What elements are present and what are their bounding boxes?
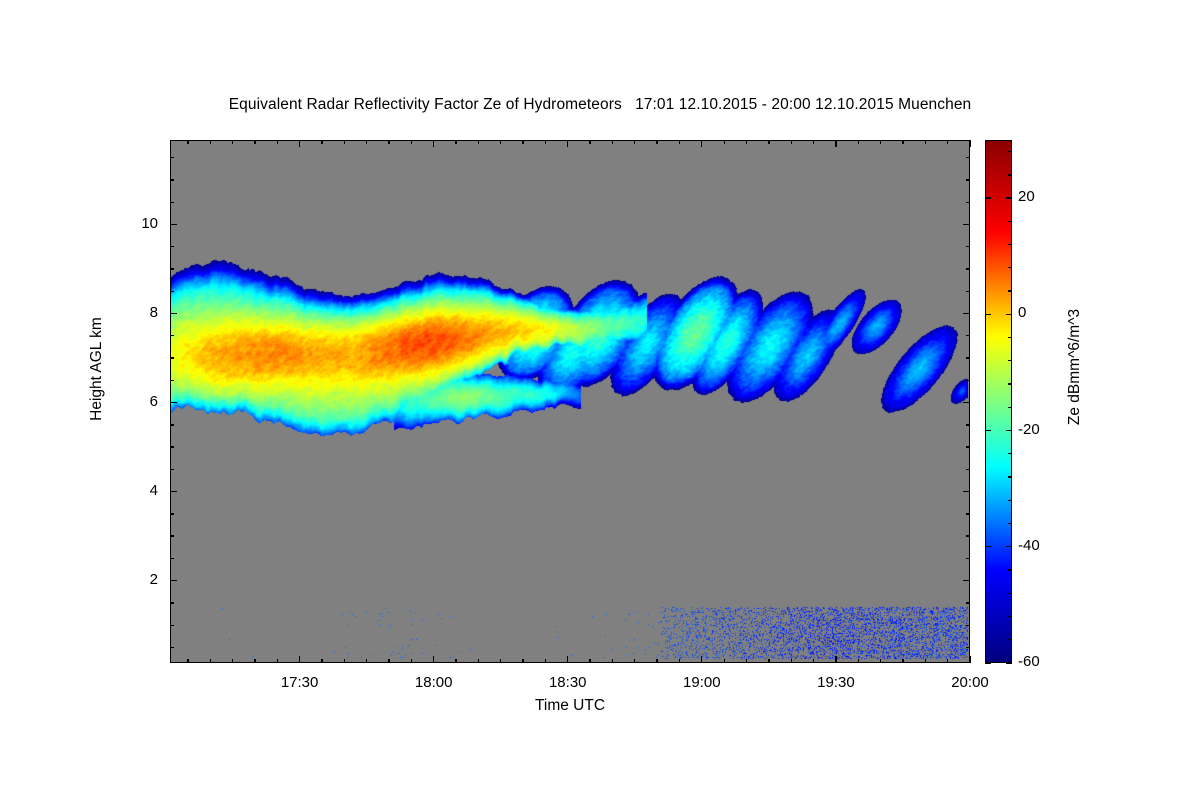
x-tick-label: 19:00	[642, 674, 762, 691]
plot-area	[170, 140, 970, 663]
colorbar-tick-label: -60	[1018, 653, 1040, 670]
tick-mark	[589, 140, 590, 144]
tick-mark	[966, 446, 970, 447]
colorbar-minor-tick	[1008, 221, 1012, 222]
tick-mark	[969, 140, 970, 147]
y-tick-label: 6	[98, 393, 158, 410]
tick-mark	[478, 140, 479, 144]
tick-mark	[634, 140, 635, 144]
tick-mark	[388, 140, 389, 144]
tick-mark	[969, 656, 970, 663]
tick-mark	[724, 659, 725, 663]
tick-mark	[656, 140, 657, 144]
tick-mark	[966, 268, 970, 269]
colorbar-minor-tick	[1008, 569, 1012, 570]
tick-mark	[858, 659, 859, 663]
tick-mark	[170, 625, 174, 626]
tick-mark	[966, 647, 970, 648]
tick-mark	[170, 313, 177, 314]
tick-mark	[966, 513, 970, 514]
tick-mark	[500, 659, 501, 663]
tick-mark	[724, 140, 725, 144]
tick-mark	[232, 659, 233, 663]
tick-mark	[835, 656, 836, 663]
tick-mark	[478, 659, 479, 663]
y-tick-label: 10	[98, 215, 158, 232]
tick-mark	[567, 656, 568, 663]
colorbar-tick	[985, 314, 991, 315]
tick-mark	[963, 491, 970, 492]
tick-mark	[746, 659, 747, 663]
tick-mark	[170, 157, 174, 158]
tick-mark	[455, 659, 456, 663]
colorbar-minor-tick	[1008, 476, 1012, 477]
tick-mark	[500, 140, 501, 144]
tick-mark	[656, 659, 657, 663]
x-tick-label: 19:30	[776, 674, 896, 691]
tick-mark	[170, 535, 174, 536]
tick-mark	[589, 659, 590, 663]
tick-mark	[522, 659, 523, 663]
colorbar-minor-tick	[1008, 151, 1012, 152]
tick-mark	[254, 140, 255, 144]
tick-mark	[966, 357, 970, 358]
tick-mark	[966, 602, 970, 603]
tick-mark	[545, 140, 546, 144]
tick-mark	[170, 291, 174, 292]
colorbar-minor-tick	[1008, 453, 1012, 454]
tick-mark	[277, 140, 278, 144]
colorbar-title: Ze dBmm^6/m^3	[1066, 267, 1084, 467]
colorbar-tick-label: 0	[1018, 304, 1026, 321]
colorbar-tick	[1006, 430, 1012, 431]
colorbar-tick-label: -20	[1018, 421, 1040, 438]
tick-mark	[366, 140, 367, 144]
tick-mark	[254, 659, 255, 663]
tick-mark	[170, 580, 177, 581]
tick-mark	[299, 656, 300, 663]
tick-mark	[170, 179, 174, 180]
tick-mark	[522, 140, 523, 144]
tick-mark	[925, 659, 926, 663]
tick-mark	[170, 268, 174, 269]
colorbar-tick	[1006, 662, 1012, 663]
tick-mark	[170, 246, 174, 247]
tick-mark	[858, 140, 859, 144]
tick-mark	[321, 659, 322, 663]
tick-mark	[634, 659, 635, 663]
tick-mark	[170, 513, 174, 514]
colorbar-tick	[1006, 546, 1012, 547]
tick-mark	[545, 659, 546, 663]
colorbar-minor-tick	[1008, 639, 1012, 640]
tick-mark	[791, 659, 792, 663]
tick-mark	[679, 659, 680, 663]
tick-mark	[433, 140, 434, 147]
x-tick-label: 18:00	[374, 674, 494, 691]
tick-mark	[746, 140, 747, 144]
tick-mark	[925, 140, 926, 144]
colorbar-minor-tick	[1008, 244, 1012, 245]
tick-mark	[880, 659, 881, 663]
tick-mark	[902, 659, 903, 663]
tick-mark	[813, 659, 814, 663]
tick-mark	[966, 469, 970, 470]
colorbar-tick	[985, 546, 991, 547]
x-tick-label: 17:30	[240, 674, 360, 691]
x-tick-label: 18:30	[508, 674, 628, 691]
tick-mark	[170, 491, 177, 492]
tick-mark	[768, 659, 769, 663]
tick-mark	[277, 659, 278, 663]
x-tick-label: 20:00	[910, 674, 1030, 691]
tick-mark	[187, 140, 188, 144]
colorbar-minor-tick	[1008, 360, 1012, 361]
colorbar-tick	[1006, 314, 1012, 315]
tick-mark	[966, 335, 970, 336]
tick-mark	[170, 335, 174, 336]
colorbar-minor-tick	[1008, 500, 1012, 501]
tick-mark	[170, 357, 174, 358]
tick-mark	[170, 202, 174, 203]
tick-mark	[880, 140, 881, 144]
y-tick-label: 2	[98, 571, 158, 588]
tick-mark	[966, 424, 970, 425]
colorbar-tick-label: -40	[1018, 537, 1040, 554]
x-axis-title: Time UTC	[170, 697, 970, 715]
tick-mark	[170, 558, 174, 559]
tick-mark	[344, 659, 345, 663]
colorbar-tick	[1006, 197, 1012, 198]
tick-mark	[966, 179, 970, 180]
tick-mark	[963, 313, 970, 314]
colorbar-minor-tick	[1008, 174, 1012, 175]
colorbar-minor-tick	[1008, 267, 1012, 268]
tick-mark	[963, 580, 970, 581]
tick-mark	[232, 140, 233, 144]
tick-mark	[411, 140, 412, 144]
tick-mark	[170, 602, 174, 603]
tick-mark	[963, 402, 970, 403]
tick-mark	[299, 140, 300, 147]
tick-mark	[947, 140, 948, 144]
tick-mark	[411, 659, 412, 663]
tick-mark	[210, 659, 211, 663]
radar-reflectivity-figure: Equivalent Radar Reflectivity Factor Ze …	[0, 0, 1200, 800]
colorbar-tick	[985, 662, 991, 663]
tick-mark	[388, 659, 389, 663]
colorbar-minor-tick	[1008, 593, 1012, 594]
tick-mark	[170, 224, 177, 225]
tick-mark	[791, 140, 792, 144]
tick-mark	[170, 446, 174, 447]
tick-mark	[170, 469, 174, 470]
colorbar-tick	[985, 197, 991, 198]
tick-mark	[210, 140, 211, 144]
tick-mark	[963, 224, 970, 225]
y-tick-label: 4	[98, 482, 158, 499]
tick-mark	[170, 647, 174, 648]
tick-mark	[679, 140, 680, 144]
tick-mark	[966, 380, 970, 381]
colorbar-minor-tick	[1008, 407, 1012, 408]
tick-mark	[567, 140, 568, 147]
colorbar-minor-tick	[1008, 290, 1012, 291]
tick-mark	[455, 140, 456, 144]
tick-mark	[170, 380, 174, 381]
tick-mark	[947, 659, 948, 663]
tick-mark	[187, 659, 188, 663]
colorbar-minor-tick	[1008, 337, 1012, 338]
tick-mark	[701, 140, 702, 147]
tick-mark	[966, 625, 970, 626]
tick-mark	[344, 140, 345, 144]
tick-mark	[366, 659, 367, 663]
colorbar	[985, 140, 1012, 663]
tick-mark	[813, 140, 814, 144]
tick-mark	[966, 246, 970, 247]
tick-mark	[701, 656, 702, 663]
tick-mark	[966, 202, 970, 203]
page-title: Equivalent Radar Reflectivity Factor Ze …	[0, 96, 1200, 114]
y-tick-label: 8	[98, 304, 158, 321]
tick-mark	[966, 157, 970, 158]
colorbar-tick	[985, 430, 991, 431]
colorbar-minor-tick	[1008, 616, 1012, 617]
tick-mark	[612, 140, 613, 144]
tick-mark	[433, 656, 434, 663]
tick-mark	[321, 140, 322, 144]
tick-mark	[170, 402, 177, 403]
tick-mark	[966, 291, 970, 292]
colorbar-minor-tick	[1008, 383, 1012, 384]
colorbar-gradient	[986, 141, 1011, 662]
tick-mark	[170, 424, 174, 425]
tick-mark	[902, 140, 903, 144]
y-axis-title: Height AGL km	[88, 269, 106, 469]
tick-mark	[966, 558, 970, 559]
colorbar-tick-label: 20	[1018, 188, 1035, 205]
tick-mark	[835, 140, 836, 147]
reflectivity-heatmap-canvas	[171, 141, 968, 661]
tick-mark	[768, 140, 769, 144]
tick-mark	[612, 659, 613, 663]
colorbar-minor-tick	[1008, 523, 1012, 524]
tick-mark	[966, 535, 970, 536]
